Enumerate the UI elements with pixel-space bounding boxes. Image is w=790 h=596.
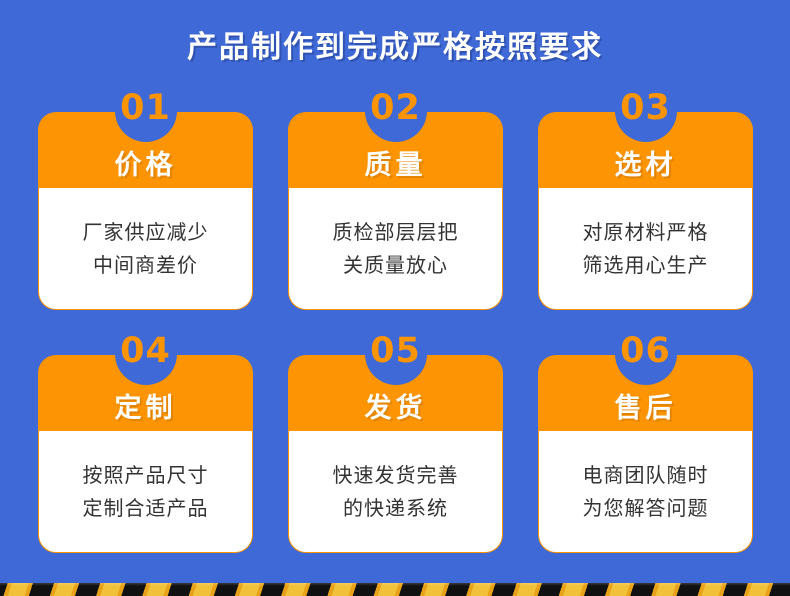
card-line-1: 厂家供应减少 xyxy=(83,216,209,249)
card-title: 质量 xyxy=(288,112,503,188)
card-line-2: 中间商差价 xyxy=(93,249,198,282)
card-line-2: 定制合适产品 xyxy=(83,492,209,525)
card-row-top: 01 价格 厂家供应减少 中间商差价 02 质量 质检部层层把 关质量放心 03… xyxy=(0,88,790,310)
card-row-bottom: 04 定制 按照产品尺寸 定制合适产品 05 发货 快速发货完善 的快递系统 0… xyxy=(0,331,790,553)
card-title: 发货 xyxy=(288,355,503,431)
hazard-stripe-bar xyxy=(0,583,790,596)
card-line-2: 为您解答问题 xyxy=(583,492,709,525)
card-title: 选材 xyxy=(538,112,753,188)
card-line-2: 关质量放心 xyxy=(343,249,448,282)
card-body: 按照产品尺寸 定制合适产品 xyxy=(38,431,253,553)
card-body: 电商团队随时 为您解答问题 xyxy=(538,431,753,553)
card-line-1: 质检部层层把 xyxy=(333,216,459,249)
card-title: 售后 xyxy=(538,355,753,431)
card-line-1: 电商团队随时 xyxy=(583,459,709,492)
card-body: 厂家供应减少 中间商差价 xyxy=(38,188,253,310)
feature-card-05[interactable]: 05 发货 快速发货完善 的快递系统 xyxy=(288,331,503,553)
feature-card-03[interactable]: 03 选材 对原材料严格 筛选用心生产 xyxy=(538,88,753,310)
card-grid: 01 价格 厂家供应减少 中间商差价 02 质量 质检部层层把 关质量放心 03… xyxy=(0,88,790,558)
card-line-1: 对原材料严格 xyxy=(583,216,709,249)
card-body: 质检部层层把 关质量放心 xyxy=(288,188,503,310)
feature-card-02[interactable]: 02 质量 质检部层层把 关质量放心 xyxy=(288,88,503,310)
card-title: 定制 xyxy=(38,355,253,431)
card-body: 快速发货完善 的快递系统 xyxy=(288,431,503,553)
card-line-1: 按照产品尺寸 xyxy=(83,459,209,492)
card-line-1: 快速发货完善 xyxy=(333,459,459,492)
card-line-2: 的快递系统 xyxy=(343,492,448,525)
card-line-2: 筛选用心生产 xyxy=(583,249,709,282)
card-body: 对原材料严格 筛选用心生产 xyxy=(538,188,753,310)
feature-card-04[interactable]: 04 定制 按照产品尺寸 定制合适产品 xyxy=(38,331,253,553)
feature-card-01[interactable]: 01 价格 厂家供应减少 中间商差价 xyxy=(38,88,253,310)
page-title: 产品制作到完成严格按照要求 xyxy=(0,0,790,88)
feature-card-06[interactable]: 06 售后 电商团队随时 为您解答问题 xyxy=(538,331,753,553)
card-title: 价格 xyxy=(38,112,253,188)
